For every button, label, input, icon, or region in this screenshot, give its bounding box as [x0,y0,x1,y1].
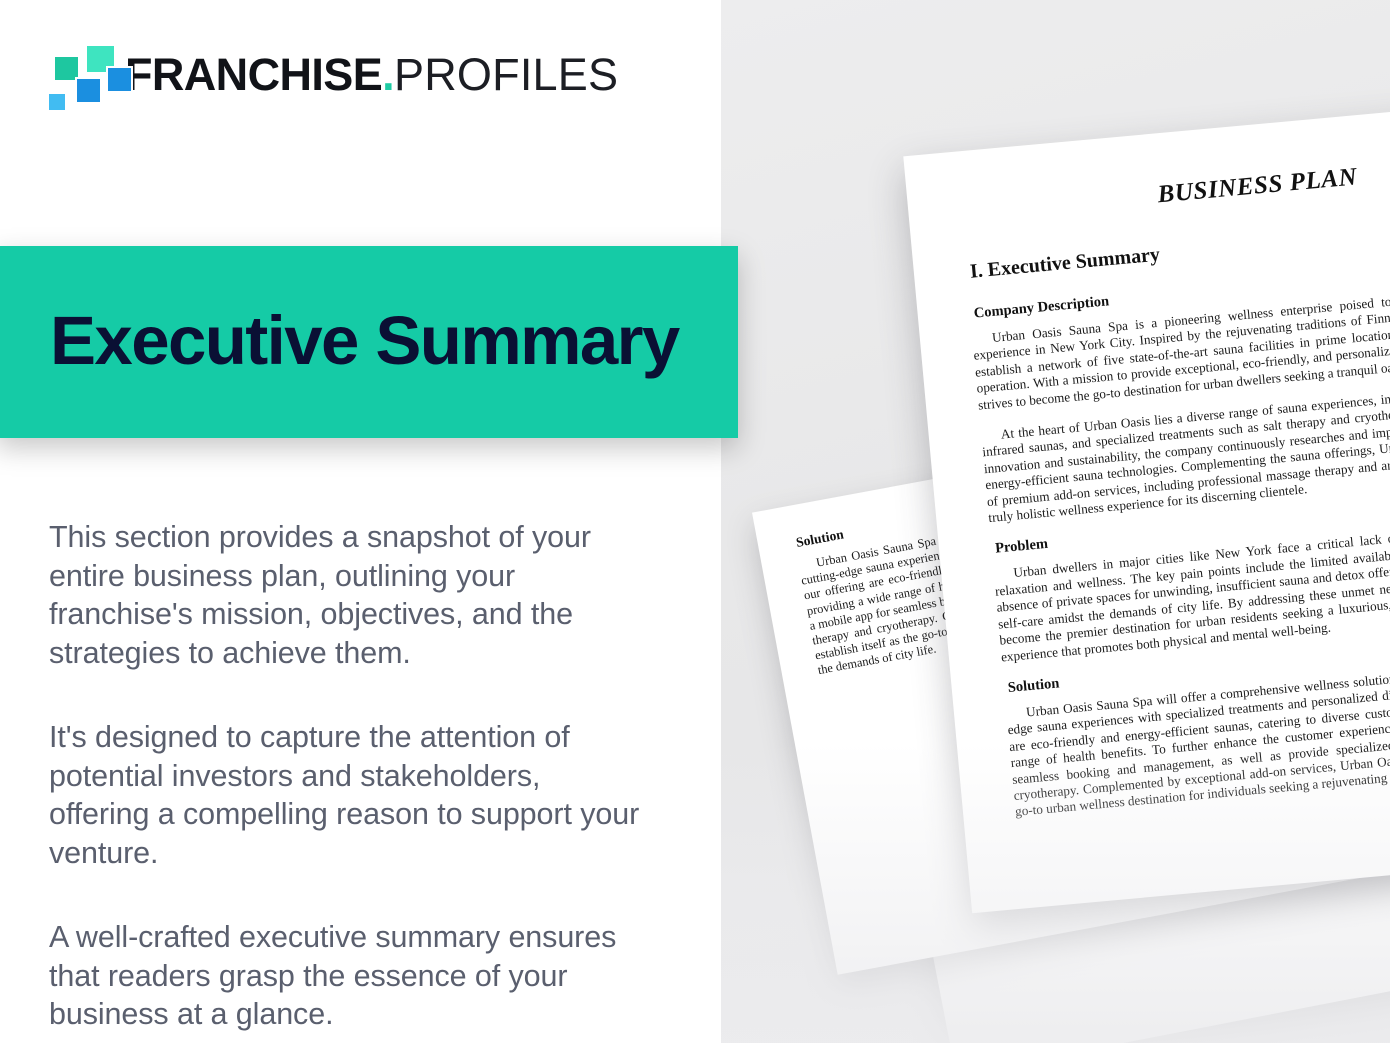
slide-root: FRANCHISE.PROFILES Executive Summary Thi… [0,0,1390,1043]
document-title: BUSINESS PLAN [959,145,1390,227]
title-banner: Executive Summary [0,246,738,438]
logo-square-blue-lower [75,77,102,104]
body-paragraph-1: This section provides a snapshot of your… [49,518,649,672]
logo-square-blue-upper [106,66,133,93]
brand-name-dot: . [382,49,394,100]
body-paragraph-3: A well-crafted executive summary ensures… [49,918,649,1034]
five-squares-mark-icon [47,44,109,104]
page-title: Executive Summary [50,301,679,380]
body-paragraph-2: It's designed to capture the attention o… [49,718,649,872]
brand-name-thin: PROFILES [394,49,618,100]
body-copy: This section provides a snapshot of your… [49,518,649,1034]
document-page-front: BUSINESS PLAN I. Executive Summary Compa… [903,93,1390,913]
logo-square-blue-small [47,92,67,112]
brand-name-bold: FRANCHISE [125,49,382,100]
brand-wordmark: FRANCHISE.PROFILES [125,52,618,97]
document-stack-image: Solution Urban Oasis Sauna Spa will offe… [721,0,1390,1043]
brand-logo[interactable]: FRANCHISE.PROFILES [47,41,618,107]
